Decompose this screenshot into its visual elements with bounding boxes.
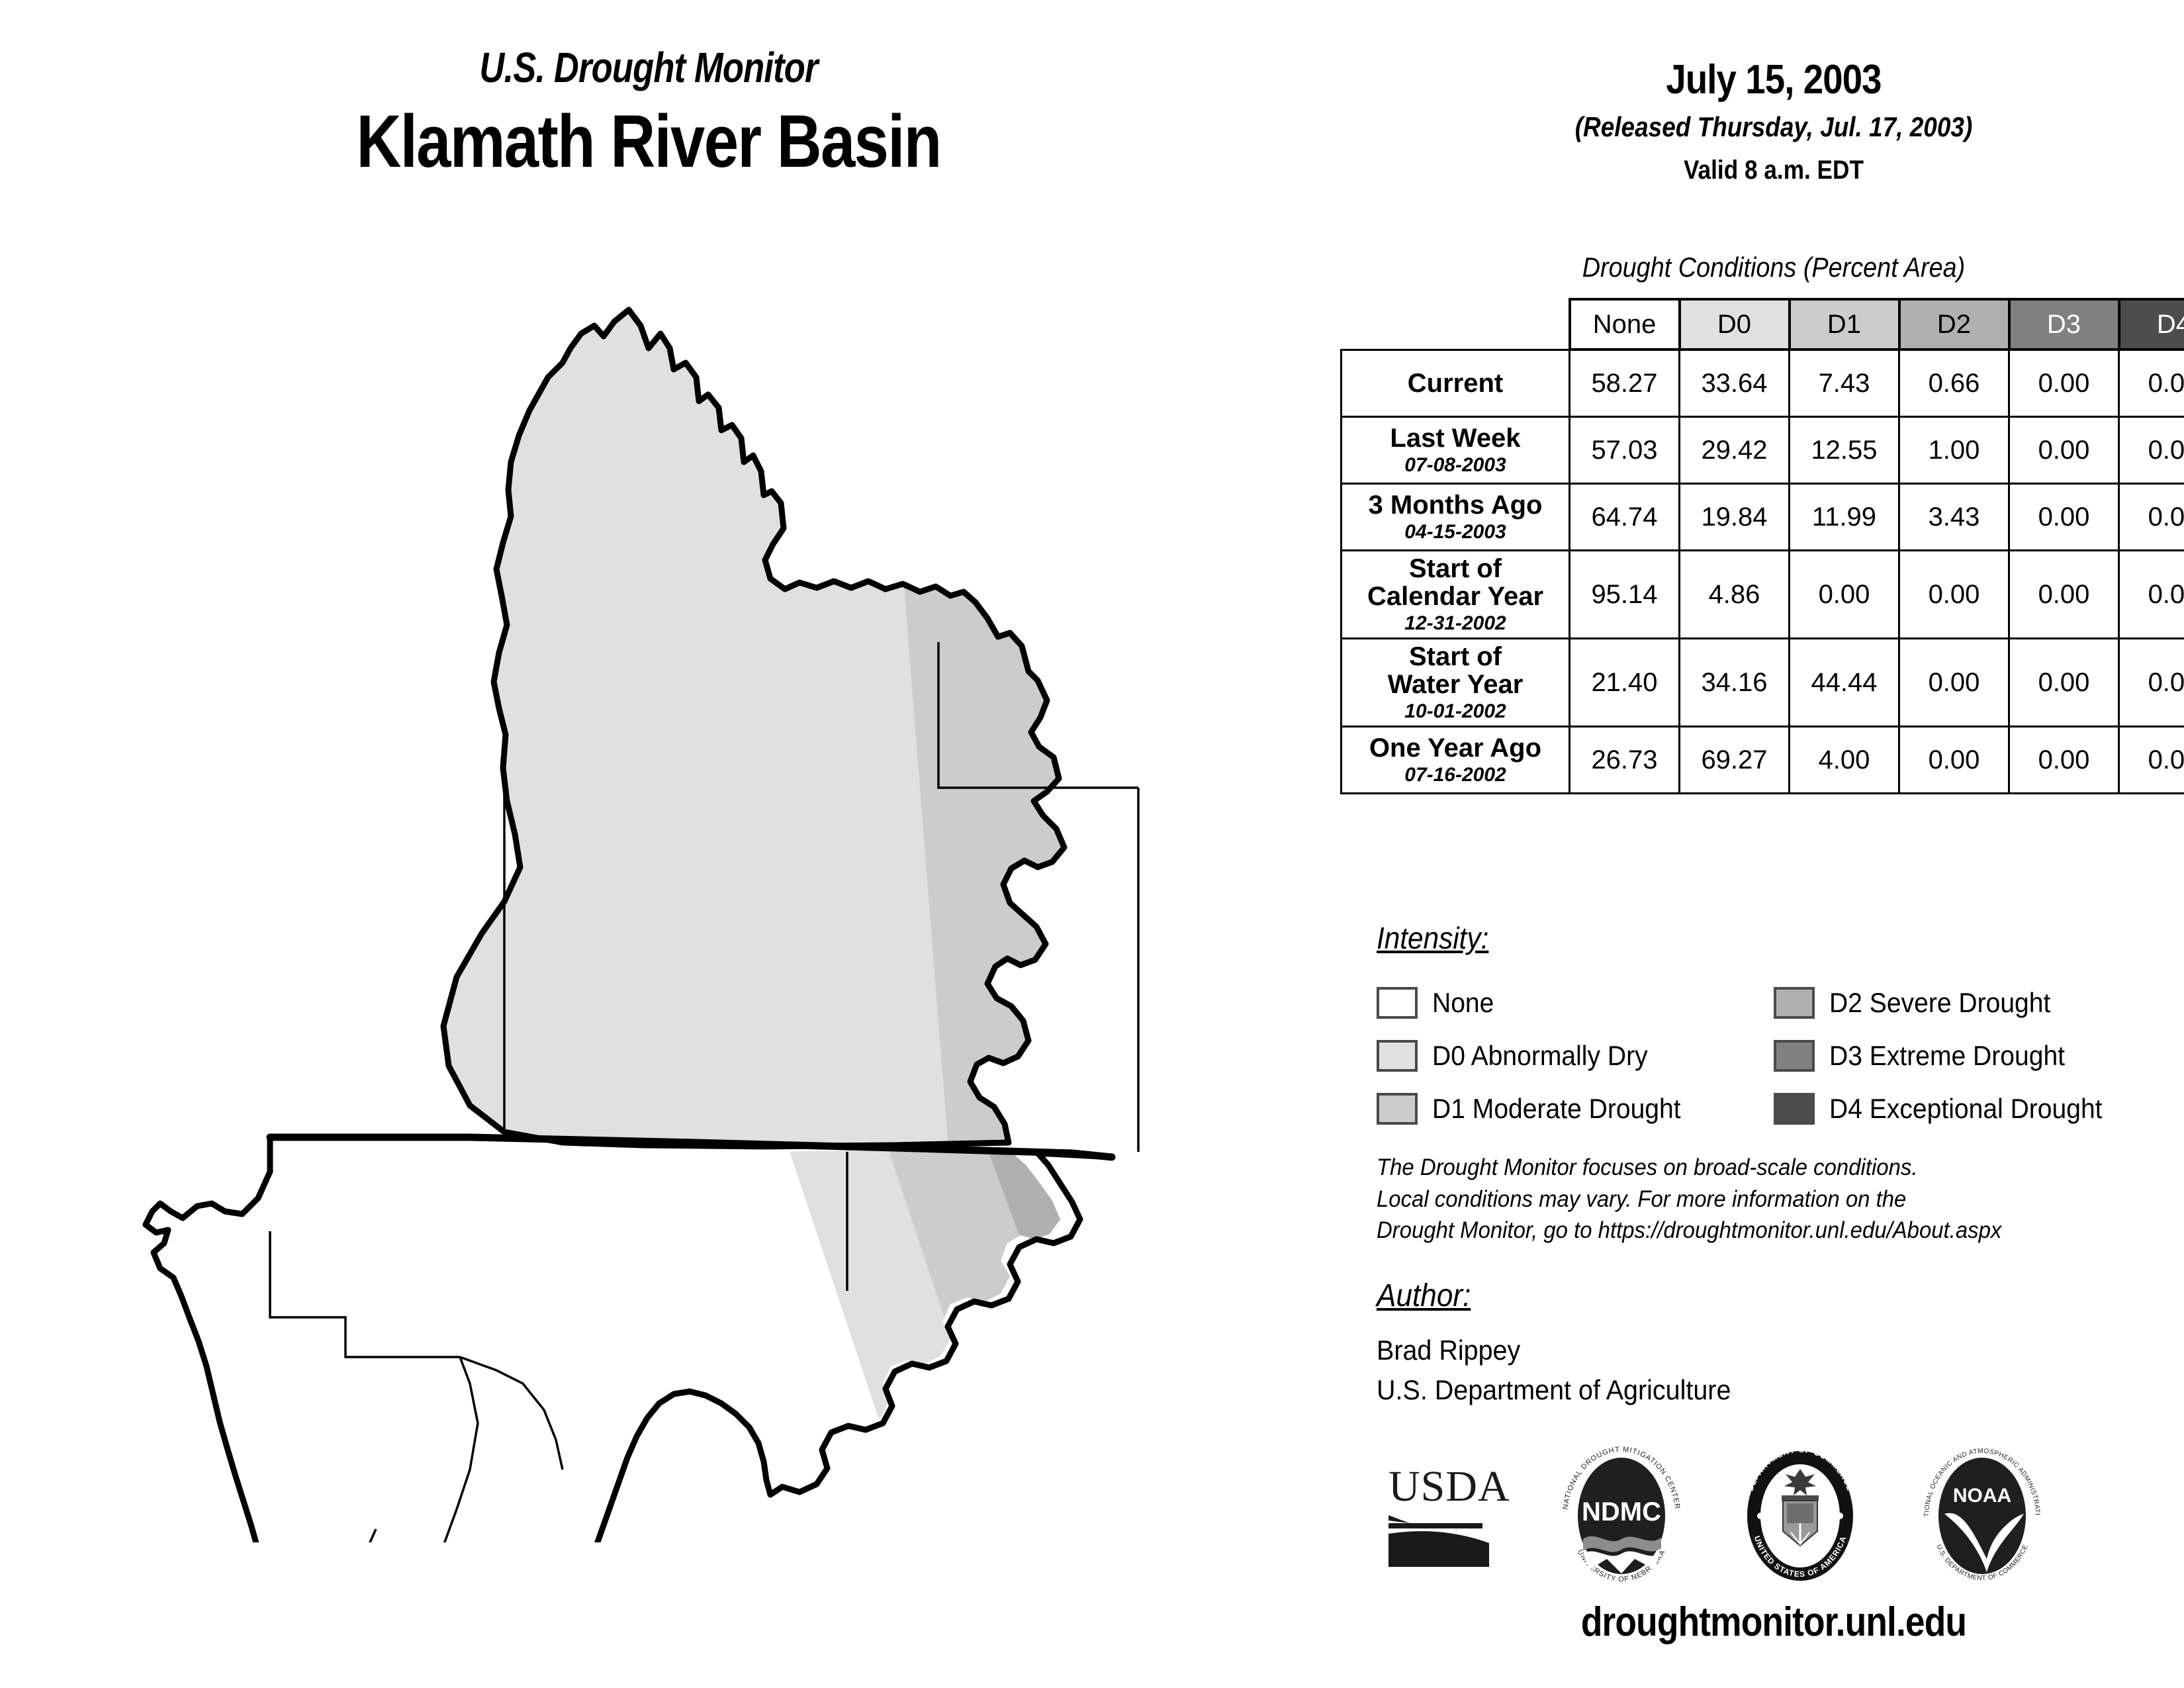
table-cell-d4: 0.00 (2119, 350, 2184, 417)
table-cell-d0: 4.86 (1680, 551, 1790, 639)
title-block: U.S. Drought Monitor Klamath River Basin (218, 46, 1079, 182)
author-block: Brad Rippey U.S. Department of Agricultu… (1377, 1331, 1731, 1409)
author-name: Brad Rippey (1377, 1331, 1731, 1370)
legend-item[interactable]: D1 Moderate Drought (1377, 1093, 1774, 1125)
table-cell-d1: 4.00 (1790, 727, 1899, 794)
row-date: 12-31-2002 (1342, 613, 1569, 634)
table-cell-d1: 44.44 (1790, 639, 1899, 727)
table-cell-d2: 0.66 (1899, 350, 2009, 417)
legend-swatch-icon (1774, 1040, 1815, 1072)
table-cell-d2: 3.43 (1899, 484, 2009, 551)
report-date: July 15, 2003 (1424, 56, 2123, 103)
table-cell-d0: 29.42 (1680, 417, 1790, 484)
table-cell-d4: 0.00 (2119, 484, 2184, 551)
legend-row: D1 Moderate DroughtD4 Exceptional Drough… (1377, 1082, 2171, 1135)
disclaimer-line-1: The Drought Monitor focuses on broad-sca… (1377, 1152, 2136, 1184)
legend-item[interactable]: D3 Extreme Drought (1774, 1040, 2171, 1072)
drought-monitor-page: U.S. Drought Monitor Klamath River Basin (0, 0, 2184, 1688)
row-date: 10-01-2002 (1342, 701, 1569, 722)
table-cell-none: 26.73 (1570, 727, 1680, 794)
row-label: One Year Ago07-16-2002 (1342, 727, 1570, 794)
page-title: Klamath River Basin (287, 102, 1010, 182)
report-release-date: (Released Thursday, Jul. 17, 2003) (1424, 111, 2123, 143)
table-cell-none: 57.03 (1570, 417, 1680, 484)
table-cell-d3: 0.00 (2009, 551, 2119, 639)
report-valid-time: Valid 8 a.m. EDT (1424, 156, 2123, 185)
doc-logo: DEPARTMENT OF COMMERCE UNITED STATES OF … (1734, 1446, 1866, 1585)
table-cell-d4: 0.00 (2119, 727, 2184, 794)
svg-text:NDMC: NDMC (1582, 1497, 1661, 1526)
svg-text:NOAA: NOAA (1953, 1485, 2011, 1507)
table-caption: Drought Conditions (Percent Area) (1416, 252, 2131, 283)
row-label: Last Week07-08-2003 (1342, 417, 1570, 484)
right-panel: July 15, 2003 (Released Thursday, Jul. 1… (1377, 0, 2171, 1688)
table-cell-d0: 33.64 (1680, 350, 1790, 417)
row-date: 07-16-2002 (1342, 765, 1569, 786)
table-col-header-d3: D3 (2009, 299, 2119, 350)
intensity-legend: NoneD2 Severe DroughtD0 Abnormally DryD3… (1377, 976, 2171, 1135)
table-cell-none: 21.40 (1570, 639, 1680, 727)
table-cell-d0: 34.16 (1680, 639, 1790, 727)
legend-swatch-icon (1377, 1040, 1418, 1072)
table-row: Last Week07-08-200357.0329.4212.551.000.… (1342, 417, 2184, 484)
table-cell-d3: 0.00 (2009, 350, 2119, 417)
ndmc-logo: NATIONAL DROUGHT MITIGATION CENTER UNIVE… (1555, 1446, 1688, 1585)
table-cell-d2: 0.00 (1899, 727, 2009, 794)
author-heading: Author: (1377, 1278, 1471, 1314)
table-cell-d4: 0.00 (2119, 639, 2184, 727)
legend-item[interactable]: D0 Abnormally Dry (1377, 1040, 1774, 1072)
table-body: Current58.2733.647.430.660.000.00Last We… (1342, 350, 2184, 794)
table-cell-d2: 0.00 (1899, 639, 2009, 727)
table-cell-d1: 0.00 (1790, 551, 1899, 639)
table-corner-cell (1342, 299, 1570, 350)
table-row: 3 Months Ago04-15-200364.7419.8411.993.4… (1342, 484, 2184, 551)
table-cell-none: 64.74 (1570, 484, 1680, 551)
program-title: U.S. Drought Monitor (296, 46, 1001, 89)
row-label: Start ofWater Year10-01-2002 (1342, 639, 1570, 727)
disclaimer-line-3: Drought Monitor, go to https://droughtmo… (1377, 1215, 2136, 1246)
legend-label: D2 Severe Drought (1829, 987, 2050, 1019)
table-cell-d4: 0.00 (2119, 551, 2184, 639)
table-cell-d3: 0.00 (2009, 484, 2119, 551)
table-row: One Year Ago07-16-200226.7369.274.000.00… (1342, 727, 2184, 794)
table-col-header-d4: D4 (2119, 299, 2184, 350)
disclaimer-text: The Drought Monitor focuses on broad-sca… (1377, 1152, 2136, 1246)
table-col-header-d2: D2 (1899, 299, 2009, 350)
drought-conditions-table: NoneD0D1D2D3D4 Current58.2733.647.430.66… (1340, 298, 2184, 794)
basin-map[interactable] (99, 285, 1357, 1542)
legend-swatch-icon (1774, 1093, 1815, 1125)
legend-swatch-icon (1377, 1093, 1418, 1125)
table-cell-d0: 19.84 (1680, 484, 1790, 551)
usda-logo: USDA (1383, 1460, 1522, 1572)
table-cell-none: 58.27 (1570, 350, 1680, 417)
table-cell-d2: 0.00 (1899, 551, 2009, 639)
legend-label: None (1432, 987, 1494, 1019)
table-cell-d1: 11.99 (1790, 484, 1899, 551)
footer-url: droughtmonitor.unl.edu (1432, 1599, 2115, 1646)
table-cell-d1: 7.43 (1790, 350, 1899, 417)
svg-text:USDA: USDA (1388, 1462, 1510, 1511)
table-row: Start ofWater Year10-01-200221.4034.1644… (1342, 639, 2184, 727)
table-row: Start ofCalendar Year12-31-200295.144.86… (1342, 551, 2184, 639)
legend-label: D3 Extreme Drought (1829, 1040, 2065, 1072)
legend-item[interactable]: D4 Exceptional Drought (1774, 1093, 2171, 1125)
legend-swatch-icon (1774, 987, 1815, 1019)
legend-label: D4 Exceptional Drought (1829, 1093, 2103, 1125)
legend-label: D1 Moderate Drought (1432, 1093, 1681, 1125)
row-date: 04-15-2003 (1342, 522, 1569, 543)
table-cell-d0: 69.27 (1680, 727, 1790, 794)
row-label: 3 Months Ago04-15-2003 (1342, 484, 1570, 551)
table-cell-none: 95.14 (1570, 551, 1680, 639)
table-cell-d1: 12.55 (1790, 417, 1899, 484)
row-label: Start ofCalendar Year12-31-2002 (1342, 551, 1570, 639)
legend-swatch-icon (1377, 987, 1418, 1019)
table-col-header-none: None (1570, 299, 1680, 350)
table-cell-d3: 0.00 (2009, 727, 2119, 794)
disclaimer-line-2: Local conditions may vary. For more info… (1377, 1184, 2136, 1215)
table-row: Current58.2733.647.430.660.000.00 (1342, 350, 2184, 417)
intensity-heading: Intensity: (1377, 920, 1488, 956)
table-col-header-d0: D0 (1680, 299, 1790, 350)
table-cell-d4: 0.00 (2119, 417, 2184, 484)
agency-logos: USDA NATIONAL DROUGHT MITIGATION CENTER (1377, 1440, 2171, 1599)
table-header: NoneD0D1D2D3D4 (1342, 299, 2184, 350)
legend-row: D0 Abnormally DryD3 Extreme Drought (1377, 1029, 2171, 1082)
row-date: 07-08-2003 (1342, 455, 1569, 476)
table-cell-d3: 0.00 (2009, 639, 2119, 727)
table-cell-d3: 0.00 (2009, 417, 2119, 484)
table-col-header-d1: D1 (1790, 299, 1899, 350)
legend-row: NoneD2 Severe Drought (1377, 976, 2171, 1029)
table-cell-d2: 1.00 (1899, 417, 2009, 484)
row-label: Current (1342, 350, 1570, 417)
legend-item[interactable]: D2 Severe Drought (1774, 987, 2171, 1019)
author-org: U.S. Department of Agriculture (1377, 1370, 1731, 1410)
legend-item[interactable]: None (1377, 987, 1774, 1019)
noaa-logo: NATIONAL OCEANIC AND ATMOSPHERIC ADMINIS… (1913, 1446, 2052, 1585)
legend-label: D0 Abnormally Dry (1432, 1040, 1648, 1072)
